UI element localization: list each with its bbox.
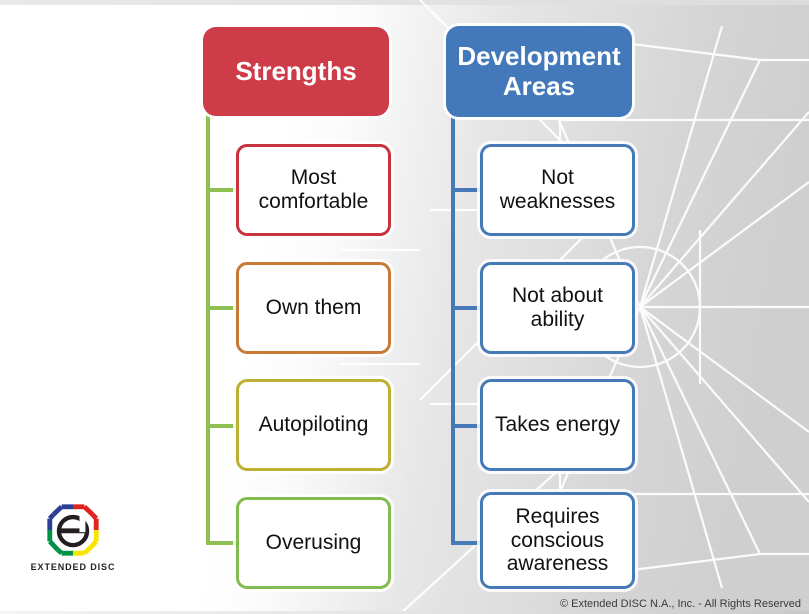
strengths-item-4-label: Overusing: [239, 531, 388, 555]
development-item-2-label: Not about ability: [483, 284, 632, 331]
strengths-item-4[interactable]: Overusing: [236, 497, 391, 589]
connector-branch-development-3: [451, 424, 483, 428]
connector-trunk-strengths: [206, 113, 210, 545]
slide-canvas: Strengths Most comfortable Own them Auto…: [0, 0, 809, 614]
top-border-strip: [0, 0, 809, 5]
strengths-item-2[interactable]: Own them: [236, 262, 391, 354]
connector-branch-development-4: [451, 541, 483, 545]
strengths-item-1-label: Most comfortable: [239, 166, 388, 213]
header-development-areas-label: Development Areas: [446, 42, 632, 100]
connector-branch-development-2: [451, 306, 483, 310]
connector-branch-development-1: [451, 188, 483, 192]
connector-branch-strengths-3: [206, 424, 238, 428]
connector-branch-strengths-4: [206, 541, 238, 545]
header-development-areas[interactable]: Development Areas: [446, 26, 632, 117]
development-item-3[interactable]: Takes energy: [480, 379, 635, 471]
connector-branch-strengths-1: [206, 188, 238, 192]
strengths-item-1[interactable]: Most comfortable: [236, 144, 391, 236]
logo-wordmark: EXTENDED DISC: [31, 562, 116, 572]
copyright-notice: © Extended DISC N.A., Inc. - All Rights …: [560, 598, 801, 610]
connector-branch-strengths-2: [206, 306, 238, 310]
header-strengths[interactable]: Strengths: [203, 27, 389, 116]
extended-disc-octagon-icon: [46, 503, 100, 557]
development-item-2[interactable]: Not about ability: [480, 262, 635, 354]
connector-trunk-development: [451, 115, 455, 545]
development-item-1[interactable]: Not weaknesses: [480, 144, 635, 236]
development-item-3-label: Takes energy: [483, 413, 632, 437]
strengths-item-3[interactable]: Autopiloting: [236, 379, 391, 471]
development-item-4[interactable]: Requires conscious awareness: [480, 492, 635, 589]
development-item-1-label: Not weaknesses: [483, 166, 632, 213]
header-strengths-label: Strengths: [203, 57, 389, 86]
strengths-item-3-label: Autopiloting: [239, 413, 388, 437]
strengths-item-2-label: Own them: [239, 296, 388, 320]
development-item-4-label: Requires conscious awareness: [483, 505, 632, 576]
brand-logo: EXTENDED DISC: [18, 503, 128, 593]
